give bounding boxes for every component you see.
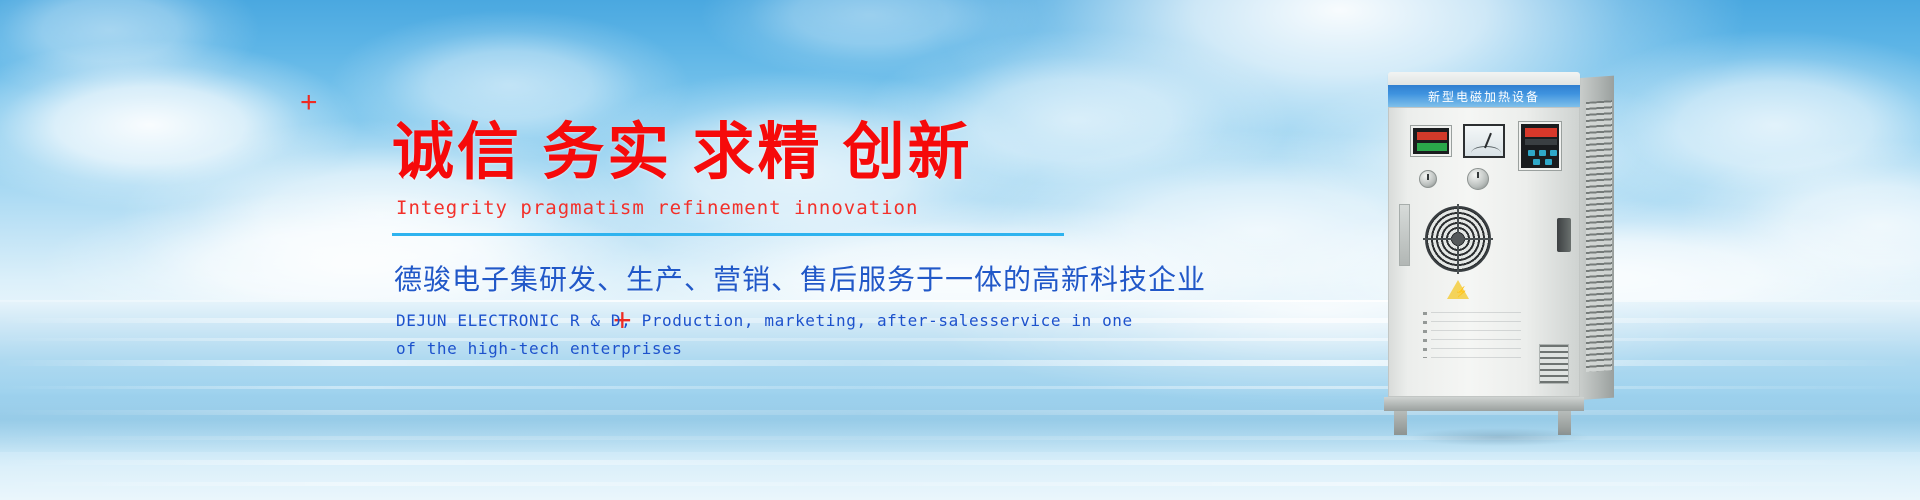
control-knob-large [1467,168,1489,190]
machine-leg [1558,411,1571,435]
machine-label-band: 新型电磁加热设备 [1388,85,1580,107]
water-streak [0,386,1920,389]
cloud [0,40,360,210]
machine-top-cap [1388,72,1580,86]
water-streak [0,482,1920,486]
divider-line [392,233,1064,236]
spec-label-bullets [1423,312,1427,358]
keypad-button [1539,150,1546,156]
machine-front-panel: ⚡ [1388,107,1580,397]
banner-description-chinese: 德骏电子集研发、生产、营销、售后服务于一体的高新科技企业 [394,258,1252,298]
machine-label-text: 新型电磁加热设备 [1428,88,1540,105]
banner-description-english-line1: DEJUN ELECTRONIC R & D, Production, mark… [396,311,1252,330]
keypad-button [1528,150,1535,156]
keypad-button [1545,159,1552,165]
banner-description-english-line2: of the high-tech enterprises [396,339,1252,358]
cloud [1680,140,1920,310]
fan-hub [1452,233,1464,245]
keypad-display [1525,128,1557,137]
control-knob-small [1419,170,1437,188]
digital-display [1411,126,1451,156]
keypad-button [1533,159,1540,165]
water-streak [0,436,1920,440]
cloud [1560,30,1920,220]
analog-gauge [1463,124,1505,158]
control-keypad [1519,122,1561,170]
warning-bolt-icon: ⚡ [1455,288,1461,298]
machine-side-vents [1586,100,1612,372]
banner-copy: 诚信 务实 求精 创新 Integrity pragmatism refinem… [392,120,1252,358]
product-machine-image: 新型电磁加热设备 [1380,72,1610,432]
keypad-subdisplay [1525,139,1557,145]
plus-mark-icon: + [300,88,318,118]
water-streak [0,410,1920,415]
fan-grille-icon [1425,206,1491,272]
machine-left-strip [1399,204,1410,266]
machine-base [1384,397,1584,411]
cloud [700,0,1040,80]
banner-headline-english: Integrity pragmatism refinement innovati… [396,197,1252,219]
banner-headline: 诚信 务实 求精 创新 [392,120,1252,185]
cloud [0,0,260,100]
promo-banner: + + 诚信 务实 求精 创新 Integrity pragmatism ref… [0,0,1920,500]
machine-bottom-vent [1539,344,1569,384]
spec-label-lines [1431,312,1521,358]
water-streak [0,460,1920,465]
machine-handle [1557,218,1571,252]
machine-leg [1394,411,1407,435]
water-streak [0,360,1920,366]
keypad-button [1550,150,1557,156]
display-segment [1417,132,1447,140]
